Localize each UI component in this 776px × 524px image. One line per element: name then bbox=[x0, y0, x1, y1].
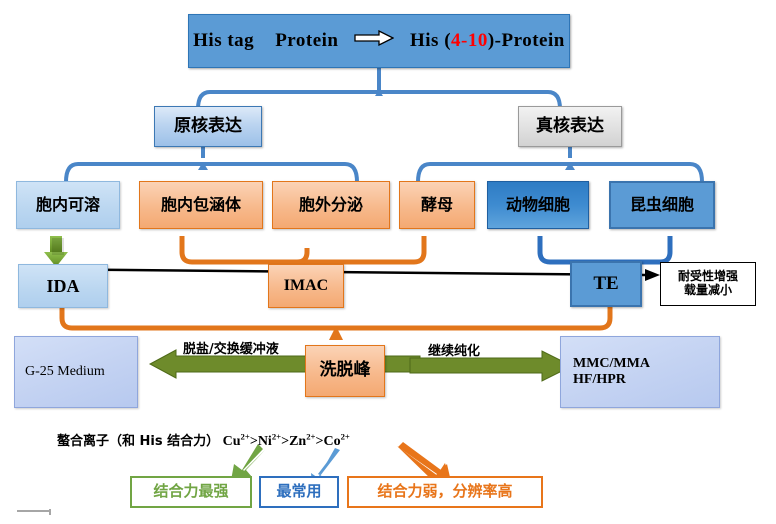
node-insect-cell: 昆虫细胞 bbox=[609, 181, 715, 229]
node-imac: IMAC bbox=[268, 264, 344, 308]
node-te: TE bbox=[570, 261, 642, 307]
node-label: 酵母 bbox=[421, 196, 453, 214]
node-label: 真核表达 bbox=[536, 117, 604, 137]
tag-label: 结合力弱，分辨率高 bbox=[377, 483, 512, 500]
node-inclusion-body: 胞内包涵体 bbox=[139, 181, 263, 229]
node-prokaryotic-expression: 原核表达 bbox=[154, 106, 262, 147]
node-label: 昆虫细胞 bbox=[630, 196, 694, 214]
node-eukaryotic-expression: 真核表达 bbox=[518, 106, 622, 147]
title-box: His tag Protein His (4-10)-Protein bbox=[188, 14, 570, 68]
arrow-soluble-to-ida bbox=[44, 236, 68, 267]
node-label: G-25 Medium bbox=[25, 364, 105, 380]
title-his-post: )-Protein bbox=[488, 30, 565, 51]
node-label-line-2: HF/HPR bbox=[573, 372, 626, 388]
node-label: 原核表达 bbox=[174, 117, 242, 137]
formula-prefix: 螯合离子（和 His 结合力） bbox=[57, 434, 219, 449]
footer-formula: 螯合离子（和 His 结合力） Cu2+>Ni2+>Zn2+>Co2+ bbox=[57, 430, 350, 450]
node-animal-cell: 动物细胞 bbox=[487, 181, 589, 229]
title-his-num: 4-10 bbox=[451, 30, 488, 51]
rightwards-arrow-icon bbox=[354, 30, 394, 52]
node-label: 胞内包涵体 bbox=[161, 196, 241, 214]
tag-most-used: 最常用 bbox=[259, 476, 339, 508]
node-elution-peak: 洗脱峰 bbox=[305, 345, 385, 397]
node-label: 胞外分泌 bbox=[299, 196, 363, 214]
arrow-label-desalt: 脱盐/交换缓冲液 bbox=[183, 338, 279, 357]
title-protein: Protein bbox=[275, 30, 338, 51]
node-label: 动物细胞 bbox=[506, 196, 570, 214]
tag-strongest-binding: 结合力最强 bbox=[130, 476, 252, 508]
node-label: TE bbox=[593, 273, 618, 295]
node-label: 洗脱峰 bbox=[320, 361, 371, 381]
node-label: 胞内可溶 bbox=[36, 196, 100, 214]
tag-weak-binding-high-resolution: 结合力弱，分辨率高 bbox=[347, 476, 543, 508]
callout-line-1: 耐受性增强 bbox=[678, 270, 738, 284]
node-yeast: 酵母 bbox=[399, 181, 475, 229]
diagram-canvas: His tag Protein His (4-10)-Protein 原核表达 … bbox=[0, 0, 776, 524]
node-label: IDA bbox=[46, 276, 79, 297]
node-ida: IDA bbox=[18, 264, 108, 308]
tag-label: 结合力最强 bbox=[153, 483, 228, 500]
arrow-label-continue: 继续纯化 bbox=[428, 340, 480, 359]
node-g25-medium: G-25 Medium bbox=[14, 336, 138, 408]
callout-tolerance: 耐受性增强 载量减小 bbox=[660, 262, 756, 306]
title-his-pre: His ( bbox=[410, 30, 451, 51]
tag-label: 最常用 bbox=[276, 483, 321, 500]
formula-ions: Cu2+>Ni2+>Zn2+>Co2+ bbox=[219, 434, 350, 449]
node-label-line-1: MMC/MMA bbox=[573, 356, 650, 372]
node-intracellular-soluble: 胞内可溶 bbox=[16, 181, 120, 229]
callout-line-2: 载量减小 bbox=[684, 284, 732, 298]
node-mmc-mma: MMC/MMA HF/HPR bbox=[560, 336, 720, 408]
title-his-tag: His tag bbox=[193, 30, 254, 51]
node-extracellular-secretion: 胞外分泌 bbox=[272, 181, 390, 229]
node-label: IMAC bbox=[284, 277, 328, 295]
